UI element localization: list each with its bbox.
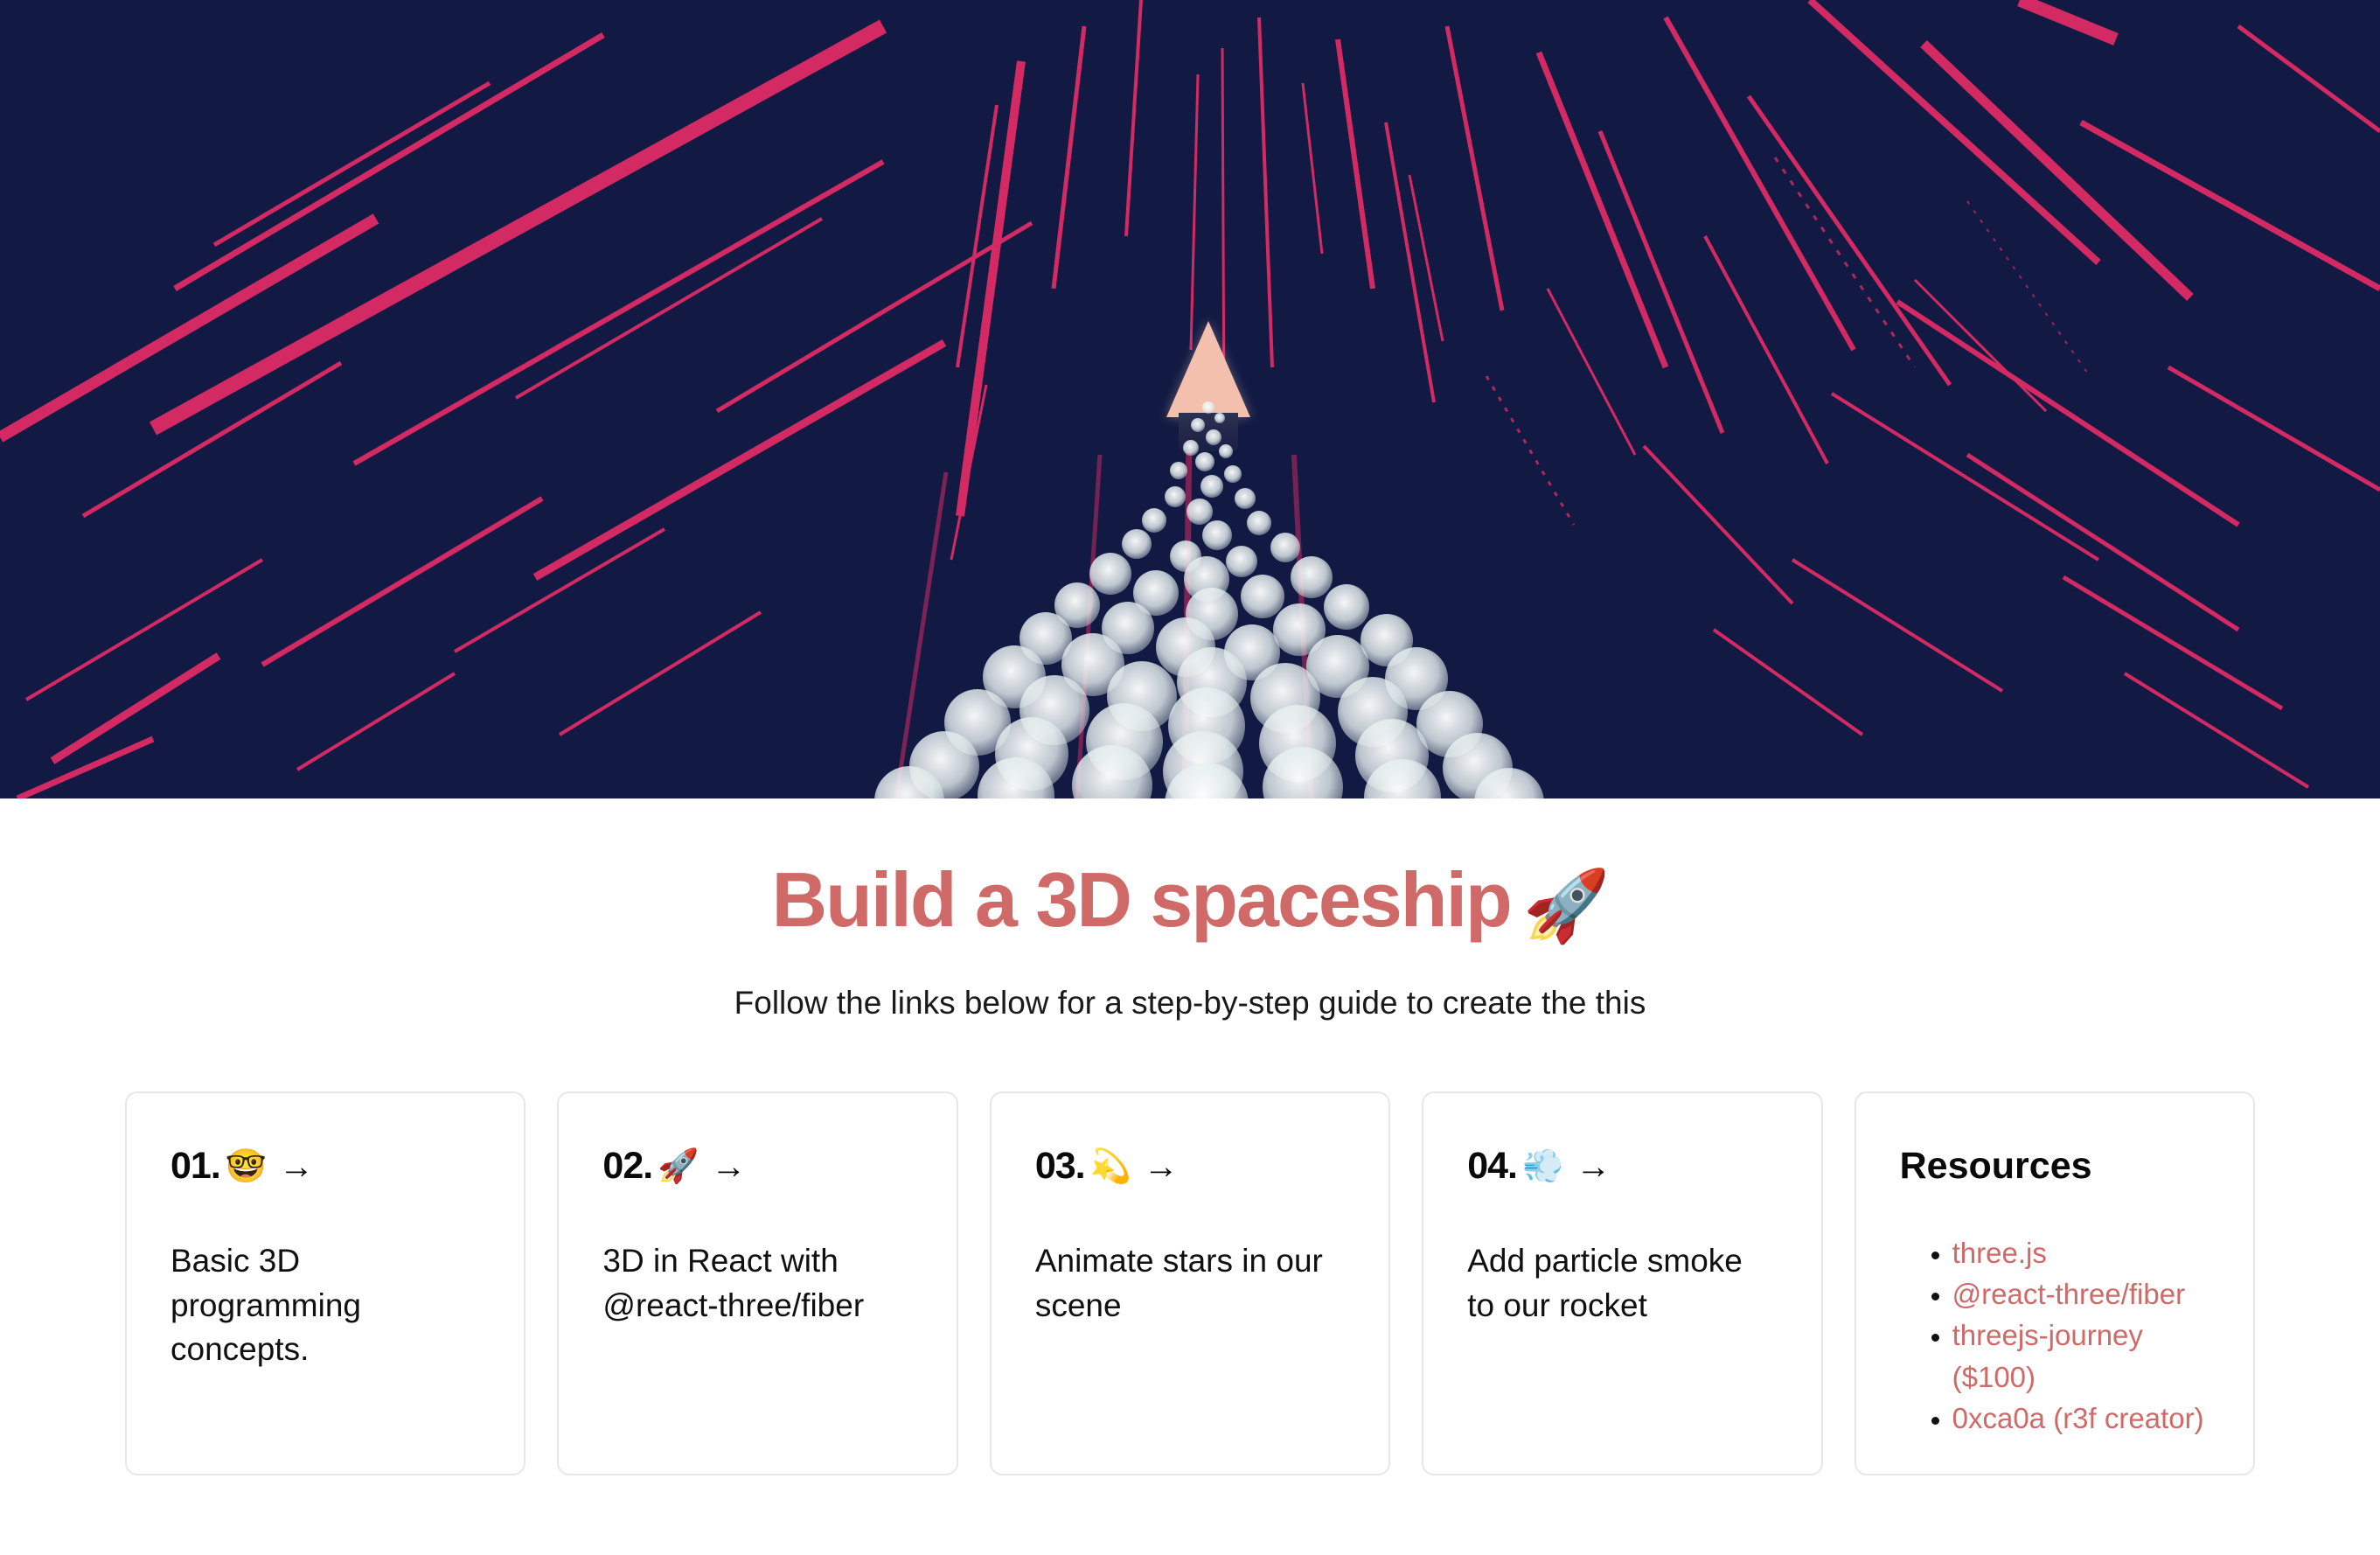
card-04-body: Add particle smoke to our rocket [1467, 1239, 1777, 1328]
card-04-heading: 04. 💨 → [1467, 1147, 1777, 1185]
page-subtitle: Follow the links below for a step-by-ste… [0, 985, 2380, 1022]
guide-card-02[interactable]: 02. 🚀 → 3D in React with @react-three/fi… [557, 1091, 957, 1475]
arrow-right-icon: → [1144, 1149, 1179, 1184]
dizzy-star-icon: 💫 [1090, 1150, 1131, 1183]
resources-list: three.js @react-three/fiber threejs-jour… [1900, 1232, 2210, 1439]
arrow-right-icon: → [712, 1149, 747, 1184]
page-title-text: Build a 3D spaceship [772, 856, 1511, 943]
arrow-right-icon: → [1576, 1149, 1611, 1184]
card-01-number: 01. [170, 1147, 220, 1185]
card-04-number: 04. [1467, 1147, 1517, 1185]
rocket-icon: 🚀 [1523, 867, 1609, 945]
card-01-body: Basic 3D programming concepts. [170, 1239, 480, 1372]
guide-card-04[interactable]: 04. 💨 → Add particle smoke to our rocket [1422, 1091, 1822, 1475]
resources-card: Resources three.js @react-three/fiber th… [1855, 1091, 2255, 1475]
nerd-face-icon: 🤓 [226, 1150, 267, 1183]
card-02-body: 3D in React with @react-three/fiber [602, 1239, 912, 1328]
card-01-heading: 01. 🤓 → [170, 1147, 480, 1185]
arrow-right-icon: → [279, 1149, 314, 1184]
guide-card-row: 01. 🤓 → Basic 3D programming concepts. 0… [0, 1091, 2380, 1475]
list-item[interactable]: 0xca0a (r3f creator) [1952, 1398, 2210, 1439]
list-item[interactable]: @react-three/fiber [1952, 1273, 2210, 1314]
card-03-heading: 03. 💫 → [1035, 1147, 1345, 1185]
rocket-icon: 🚀 [658, 1150, 699, 1183]
resource-link-three-js[interactable]: three.js [1952, 1237, 2047, 1269]
card-03-number: 03. [1035, 1147, 1085, 1185]
particle-smoke-plume [0, 376, 2380, 798]
card-02-heading: 02. 🚀 → [602, 1147, 912, 1185]
resources-title: Resources [1900, 1147, 2210, 1185]
resource-link-threejs-journey[interactable]: threejs-journey ($100) [1952, 1319, 2143, 1392]
card-03-body: Animate stars in our scene [1035, 1239, 1345, 1328]
guide-card-01[interactable]: 01. 🤓 → Basic 3D programming concepts. [125, 1091, 525, 1475]
page-title: Build a 3D spaceship🚀 [0, 860, 2380, 943]
resource-link-react-three-fiber[interactable]: @react-three/fiber [1952, 1278, 2185, 1310]
guide-card-03[interactable]: 03. 💫 → Animate stars in our scene [990, 1091, 1390, 1475]
dashing-away-icon: 💨 [1522, 1150, 1563, 1183]
card-02-number: 02. [602, 1147, 652, 1185]
page-content: Build a 3D spaceship🚀 Follow the links b… [0, 860, 2380, 1475]
resource-link-0xca0a[interactable]: 0xca0a (r3f creator) [1952, 1402, 2204, 1434]
hero-banner [0, 0, 2380, 798]
list-item[interactable]: threejs-journey ($100) [1952, 1314, 2210, 1397]
list-item[interactable]: three.js [1952, 1232, 2210, 1273]
